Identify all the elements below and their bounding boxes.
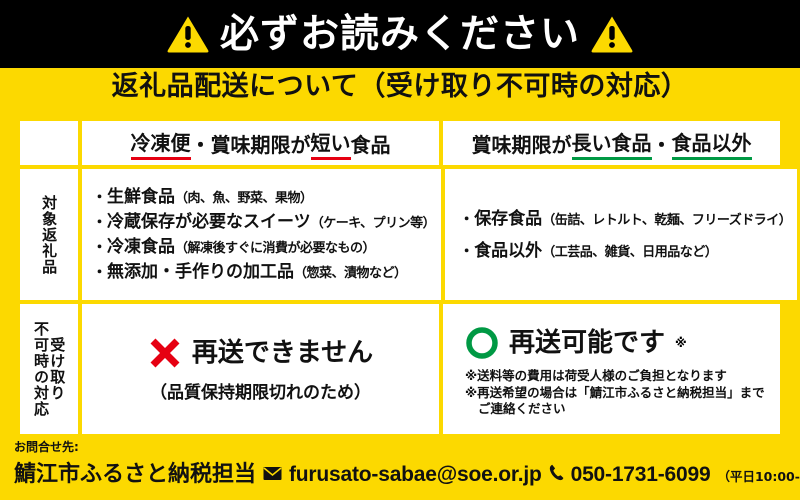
resend-not-possible-cell: 再送できません （品質保持期限切れのため） bbox=[82, 304, 439, 434]
asterisk-note-marker: ※ bbox=[675, 336, 687, 350]
colhead-part: 食品 bbox=[351, 129, 391, 158]
contact-hours: （平日10:00-17:00対応） bbox=[717, 466, 800, 485]
resend-reason-text: （品質保持期限切れのため） bbox=[150, 378, 371, 403]
warning-triangle-icon bbox=[590, 14, 634, 54]
resend-status-text: 再送可能です bbox=[509, 330, 665, 356]
list-item: ・冷蔵保存が必要なスイーツ（ケーキ、プリン等） bbox=[92, 214, 435, 232]
row-label-target-gifts: 対象返礼品 bbox=[20, 169, 78, 300]
row-label-text: 対象返礼品 bbox=[41, 195, 57, 275]
colhead-part: ・賞味期限が bbox=[191, 129, 311, 158]
target-gifts-left-cell: ・生鮮食品（肉、魚、野菜、果物） ・冷蔵保存が必要なスイーツ（ケーキ、プリン等）… bbox=[82, 169, 441, 300]
list-item: ・無添加・手作りの加工品（惣菜、漬物など） bbox=[92, 264, 435, 282]
resend-status-text: 再送できません bbox=[192, 340, 373, 366]
delivery-policy-table: 冷凍便・賞味期限が短い食品 賞味期限が長い食品・食品以外 対象返礼品 ・生鮮食品… bbox=[20, 121, 780, 434]
contact-organization: 鯖江市ふるさと納税担当 bbox=[14, 456, 256, 488]
page-title: 必ずお読みください bbox=[220, 15, 580, 54]
envelope-icon bbox=[263, 466, 282, 481]
target-gifts-right-cell: ・保存食品（缶詰、レトルト、乾麺、フリーズドライ） ・食品以外（工芸品、雑貨、日… bbox=[445, 169, 797, 300]
column-header-short-shelf-life: 冷凍便・賞味期限が短い食品 bbox=[82, 121, 439, 165]
contact-phone[interactable]: 050-1731-6099 bbox=[571, 463, 711, 487]
note-line: ※送料等の費用は荷受人様のご負担となります bbox=[465, 368, 774, 384]
note-line: ※再送希望の場合は「鯖江市ふるさと納税担当」までご連絡ください bbox=[465, 385, 774, 416]
header-banner: 必ずお読みください bbox=[0, 0, 800, 68]
corner-cell bbox=[20, 121, 78, 165]
colhead-part: ・ bbox=[652, 129, 672, 158]
resend-notes: ※送料等の費用は荷受人様のご負担となります ※再送希望の場合は「鯖江市ふるさと納… bbox=[465, 368, 774, 417]
warning-triangle-icon bbox=[166, 14, 210, 54]
table-header-row: 冷凍便・賞味期限が短い食品 賞味期限が長い食品・食品以外 bbox=[20, 121, 780, 165]
list-item: ・冷凍食品（解凍後すぐに消費が必要なもの） bbox=[92, 239, 435, 257]
list-item: ・保存食品（缶詰、レトルト、乾麺、フリーズドライ） bbox=[459, 211, 791, 229]
contact-label: お問合せ先: bbox=[14, 440, 794, 454]
contact-email[interactable]: furusato-sabae@soe.or.jp bbox=[289, 463, 542, 487]
colhead-part: 冷凍便 bbox=[131, 127, 191, 160]
table-row: 受け取り 不可時の対応 再送できません （品質保持期限切れのため） bbox=[20, 304, 780, 434]
resend-possible-cell: 再送可能です※ ※送料等の費用は荷受人様のご負担となります ※再送希望の場合は「… bbox=[443, 304, 780, 434]
list-item: ・生鮮食品（肉、魚、野菜、果物） bbox=[92, 189, 435, 207]
column-header-long-shelf-life: 賞味期限が長い食品・食品以外 bbox=[443, 121, 780, 165]
circle-mark-icon bbox=[465, 326, 499, 360]
cross-mark-icon bbox=[148, 336, 182, 370]
section-subtitle: 返礼品配送について（受け取り不可時の対応） bbox=[0, 72, 800, 102]
row-label-text-line2: 不可時の対応 bbox=[33, 321, 49, 417]
contact-footer: お問合せ先: 鯖江市ふるさと納税担当 furusato-sabae@soe.or… bbox=[14, 440, 794, 488]
notice-poster: 必ずお読みください 返礼品配送について（受け取り不可時の対応） 冷凍便・賞味期限… bbox=[0, 0, 800, 500]
phone-icon bbox=[549, 464, 564, 481]
list-item: ・食品以外（工芸品、雑貨、日用品など） bbox=[459, 243, 791, 261]
colhead-part: 食品以外 bbox=[672, 127, 752, 160]
colhead-part: 長い食品 bbox=[572, 127, 652, 160]
row-label-undeliverable-response: 受け取り 不可時の対応 bbox=[20, 304, 78, 434]
colhead-part: 賞味期限が bbox=[472, 129, 572, 158]
row-label-text-line1: 受け取り bbox=[49, 337, 65, 401]
colhead-part: 短い bbox=[311, 127, 351, 160]
table-row: 対象返礼品 ・生鮮食品（肉、魚、野菜、果物） ・冷蔵保存が必要なスイーツ（ケーキ… bbox=[20, 169, 780, 300]
